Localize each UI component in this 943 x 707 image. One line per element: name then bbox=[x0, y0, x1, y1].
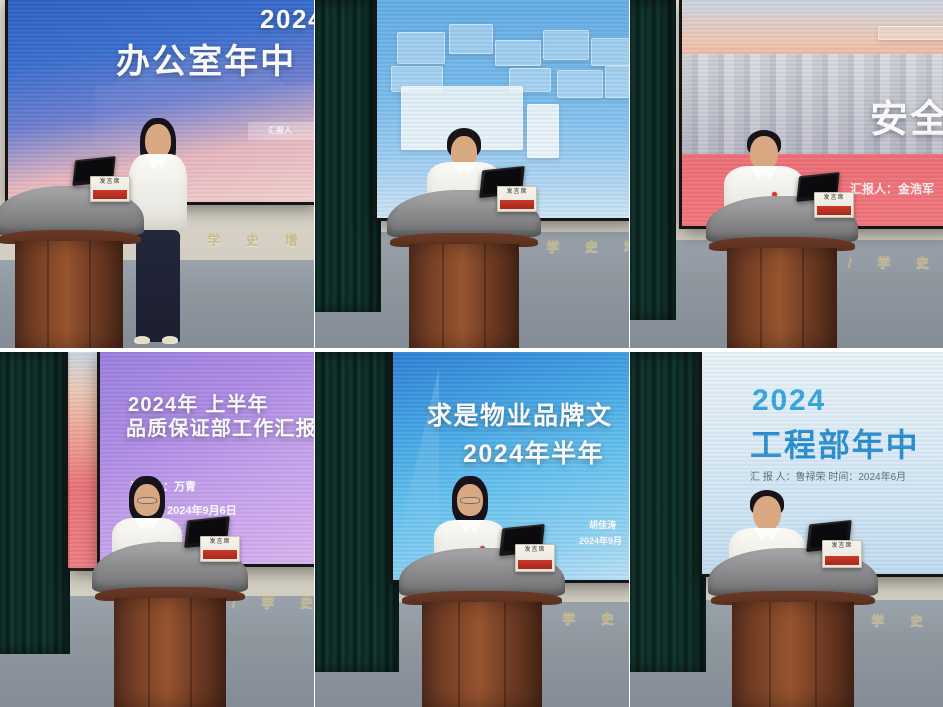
wall-slogan-3: / 学 史 增 信 / bbox=[848, 252, 943, 271]
stage-curtain bbox=[315, 0, 381, 312]
slide-title-line2: 品质保证部工作汇报 bbox=[126, 412, 314, 441]
collar bbox=[754, 528, 780, 541]
collage-panel-6: 2024 工程部年中 汇 报 人：鲁禄荣 时间：2024年6月 / 学 史 增 … bbox=[630, 352, 943, 707]
podium-6 bbox=[708, 548, 878, 707]
nameplate-accent-bar bbox=[817, 206, 852, 215]
nameplate-label: 发言席 bbox=[99, 177, 120, 186]
podium-body bbox=[114, 598, 226, 707]
photo-collage: 2024 办公室年中 汇报人 / 学 史 增 信 / bbox=[0, 0, 943, 707]
podium-body bbox=[727, 248, 836, 348]
nameplate-label: 发言席 bbox=[524, 545, 545, 554]
podium-body bbox=[409, 244, 520, 348]
collage-panel-1: 2024 办公室年中 汇报人 / 学 史 增 信 / bbox=[0, 0, 314, 348]
collar bbox=[458, 520, 482, 532]
head bbox=[145, 124, 171, 158]
collage-panel-5: 求是物业品牌文 2024年半年 胡佳涛 2024年9月 / 学 史 增 信 / bbox=[315, 352, 629, 707]
slide-subtitle: 汇 报 人：鲁禄荣 时间：2024年6月 bbox=[750, 468, 906, 483]
glasses bbox=[137, 497, 157, 504]
slide-tile bbox=[591, 38, 629, 66]
shoe-right bbox=[162, 336, 178, 344]
slide-subtitle-date: 2024年9月 bbox=[579, 534, 622, 547]
slide-tile bbox=[543, 30, 589, 60]
nameplate-2: 发言席 bbox=[497, 186, 537, 212]
slide-subtitle: 汇报人：金浩军 bbox=[850, 180, 934, 197]
collar bbox=[750, 166, 777, 179]
slide-header-chip bbox=[878, 26, 943, 40]
slide-tile bbox=[557, 70, 603, 98]
collage-panel-4: 2024年 上半年 品质保证部工作汇报 汇报人：万青 时间：2024年9月6日 … bbox=[0, 352, 314, 707]
nameplate-6: 发言席 bbox=[822, 540, 862, 568]
podium-3 bbox=[706, 196, 858, 348]
stage-curtain bbox=[630, 352, 706, 672]
nameplate-label: 发言席 bbox=[209, 537, 230, 546]
nameplate-label: 发言席 bbox=[831, 541, 852, 550]
podium-body bbox=[15, 241, 123, 348]
slide-title-line1: 2024 bbox=[260, 4, 314, 35]
collar bbox=[451, 162, 476, 174]
podium-body bbox=[732, 602, 854, 707]
slide-tile bbox=[605, 66, 629, 98]
nameplate-accent-bar bbox=[518, 560, 553, 569]
podium-1 bbox=[0, 186, 144, 348]
slide-title-line2: 2024年半年 bbox=[463, 434, 604, 470]
nameplate-4: 发言席 bbox=[200, 536, 240, 562]
head bbox=[753, 496, 781, 530]
nameplate-accent-bar bbox=[203, 550, 238, 559]
slide-phone-graphic bbox=[527, 104, 559, 158]
slide-subtitle-chip: 汇报人 bbox=[248, 122, 314, 140]
podium-body bbox=[422, 602, 542, 707]
slide-tile bbox=[495, 40, 541, 66]
slide-title-line2: 办公室年中 bbox=[116, 34, 296, 83]
slide-tile bbox=[397, 32, 445, 64]
nameplate-1: 发言席 bbox=[90, 176, 130, 202]
nameplate-label: 发言席 bbox=[823, 193, 844, 202]
nameplate-accent-bar bbox=[500, 200, 535, 209]
slide-title-line1: 求是物业品牌文 bbox=[427, 396, 613, 432]
nameplate-3: 发言席 bbox=[814, 192, 854, 218]
adjacent-screen-edge bbox=[68, 352, 102, 568]
head bbox=[750, 136, 778, 170]
slide-title-line2: 安全 bbox=[870, 88, 943, 143]
collar bbox=[135, 518, 159, 530]
slide-tile bbox=[449, 24, 493, 54]
glasses bbox=[460, 497, 480, 504]
collage-panel-3: 安全 汇报人：金浩军 / 学 史 增 信 / 发言席 bbox=[630, 0, 943, 348]
head bbox=[457, 484, 483, 516]
stage-curtain bbox=[630, 0, 676, 320]
podium-2 bbox=[387, 190, 541, 348]
stage-curtain bbox=[315, 352, 399, 672]
podium-4 bbox=[92, 542, 248, 707]
slide-title-line1: 2024 bbox=[752, 384, 826, 418]
collar bbox=[148, 154, 168, 171]
slide-subtitle: 胡佳涛 bbox=[589, 518, 616, 531]
nameplate-accent-bar bbox=[93, 190, 128, 199]
slide-subtitle: 汇报人 bbox=[268, 125, 292, 136]
nameplate-accent-bar bbox=[825, 556, 860, 565]
nameplate-5: 发言席 bbox=[515, 544, 555, 572]
head bbox=[134, 484, 160, 516]
slide-title-line2: 工程部年中 bbox=[750, 420, 920, 466]
wall-slogan-1: / 学 史 增 信 / bbox=[178, 230, 314, 249]
collage-panel-2: / 学 史 增 信 / 发言席 bbox=[315, 0, 629, 348]
stage-curtain bbox=[0, 352, 70, 654]
nameplate-label: 发言席 bbox=[506, 187, 527, 196]
